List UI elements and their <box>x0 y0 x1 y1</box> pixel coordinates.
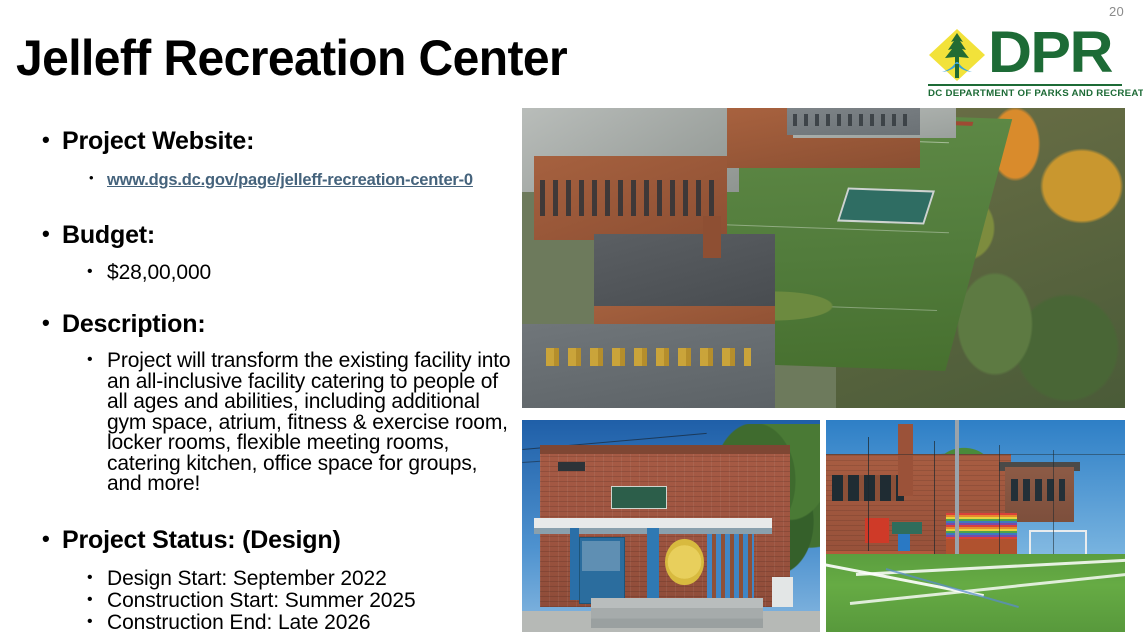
budget-block: Budget: $28,00,000 <box>36 220 516 283</box>
description-block: Description: Project will transform the … <box>36 309 516 495</box>
page-title: Jelleff Recreation Center <box>16 30 567 86</box>
website-block: Project Website: www.dgs.dc.gov/page/jel… <box>36 126 516 190</box>
status-item: Construction Start: Summer 2025 <box>85 590 516 611</box>
description-body: Project will transform the existing faci… <box>85 351 516 495</box>
website-heading: Project Website: <box>36 126 516 156</box>
dpr-tagline: DC DEPARTMENT OF PARKS AND RECREATION <box>928 88 1128 99</box>
dpr-tree-diamond-icon <box>926 26 988 84</box>
budget-amount: $28,00,000 <box>85 262 516 283</box>
budget-heading: Budget: <box>36 220 516 250</box>
facade-photo <box>522 420 820 632</box>
website-link-item: www.dgs.dc.gov/page/jelleff-recreation-c… <box>85 170 516 190</box>
field-photo <box>826 420 1125 632</box>
status-item: Design Start: September 2022 <box>85 568 516 589</box>
page-number: 20 <box>1109 4 1124 19</box>
dpr-logo: DPR DC DEPARTMENT OF PARKS AND RECREATIO… <box>926 26 1126 104</box>
aerial-photo <box>522 108 1125 408</box>
status-block: Project Status: (Design) Design Start: S… <box>36 525 516 633</box>
dpr-wordmark: DPR <box>988 21 1112 85</box>
status-heading: Project Status: (Design) <box>36 525 516 555</box>
project-website-link[interactable]: www.dgs.dc.gov/page/jelleff-recreation-c… <box>107 171 473 189</box>
status-item: Construction End: Late 2026 <box>85 612 516 633</box>
slide-body: Project Website: www.dgs.dc.gov/page/jel… <box>36 126 516 633</box>
dpr-rule <box>928 84 1122 86</box>
description-heading: Description: <box>36 309 516 339</box>
